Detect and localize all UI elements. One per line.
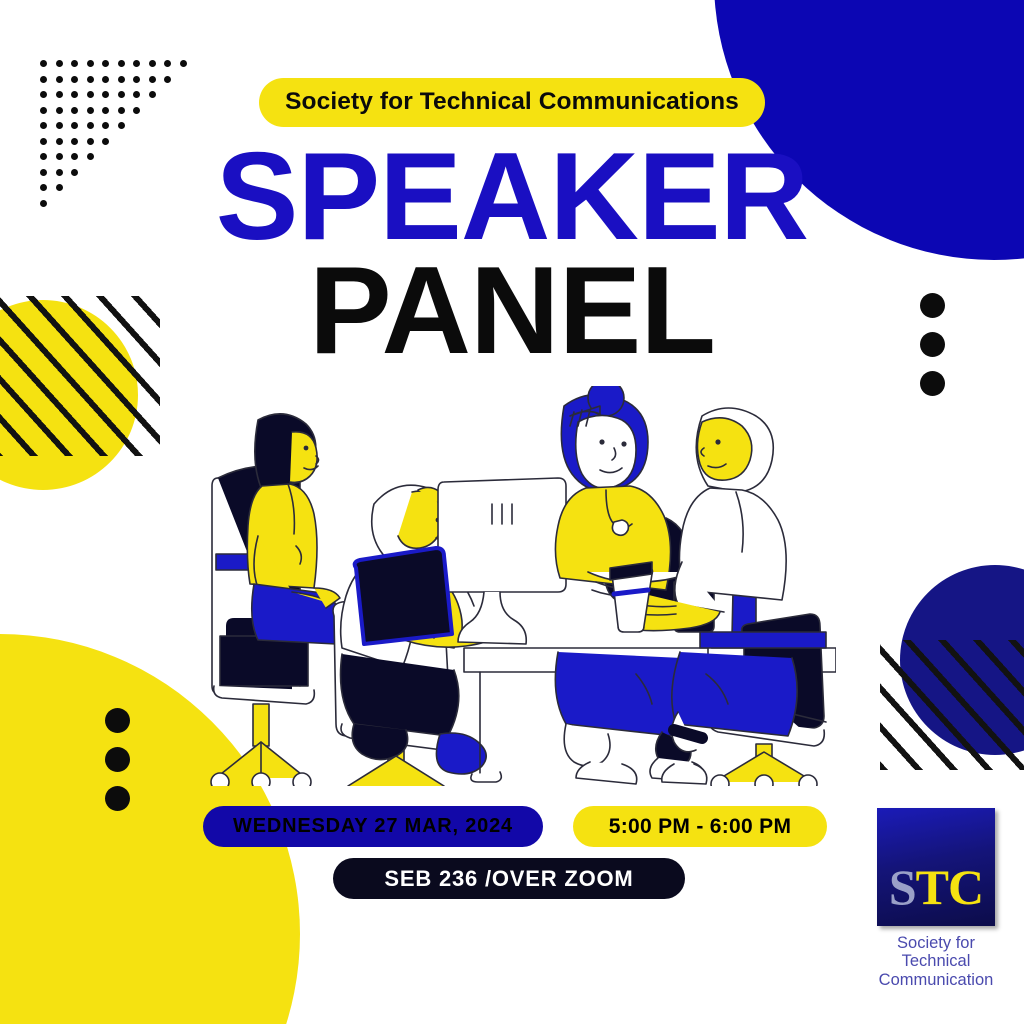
dot xyxy=(920,371,945,396)
page-title: SPEAKER PANEL xyxy=(0,140,1024,368)
stc-logo-caption: Society for Technical Communication xyxy=(862,934,1010,989)
dot-triplet-left xyxy=(105,708,130,825)
organization-badge: Society for Technical Communications xyxy=(259,78,765,127)
dot xyxy=(180,60,187,67)
stc-caption-line-2: Technical xyxy=(862,952,1010,970)
dot xyxy=(149,60,156,67)
stc-logo-mark: STC xyxy=(877,808,995,926)
title-line-panel: PANEL xyxy=(0,254,1024,368)
event-date-badge: WEDNESDAY 27 MAR, 2024 xyxy=(203,806,543,847)
dot xyxy=(118,60,125,67)
kicker-wrapper: Society for Technical Communications xyxy=(0,78,1024,127)
navy-circle-stripes-icon xyxy=(880,640,1024,770)
stc-logo-lettering: STC xyxy=(889,862,983,926)
stc-logo-letters-tc: TC xyxy=(916,859,983,915)
dot xyxy=(164,60,171,67)
dot xyxy=(71,60,78,67)
meeting-illustration xyxy=(196,386,836,786)
event-location-badge: SEB 236 /OVER ZOOM xyxy=(333,858,685,899)
title-line-speaker: SPEAKER xyxy=(0,140,1024,254)
stc-caption-line-1: Society for xyxy=(862,934,1010,952)
stc-logo: STC Society for Technical Communication xyxy=(862,808,1010,989)
dot xyxy=(105,786,130,811)
event-time-badge: 5:00 PM - 6:00 PM xyxy=(573,806,827,847)
dot xyxy=(87,60,94,67)
dot xyxy=(133,60,140,67)
stc-caption-line-3: Communication xyxy=(862,971,1010,989)
stc-logo-letter-s: S xyxy=(889,859,916,915)
dot xyxy=(105,747,130,772)
dot xyxy=(56,60,63,67)
dot xyxy=(40,60,47,67)
dot xyxy=(102,60,109,67)
dot xyxy=(105,708,130,733)
poster-canvas: Society for Technical Communications SPE… xyxy=(0,0,1024,1024)
